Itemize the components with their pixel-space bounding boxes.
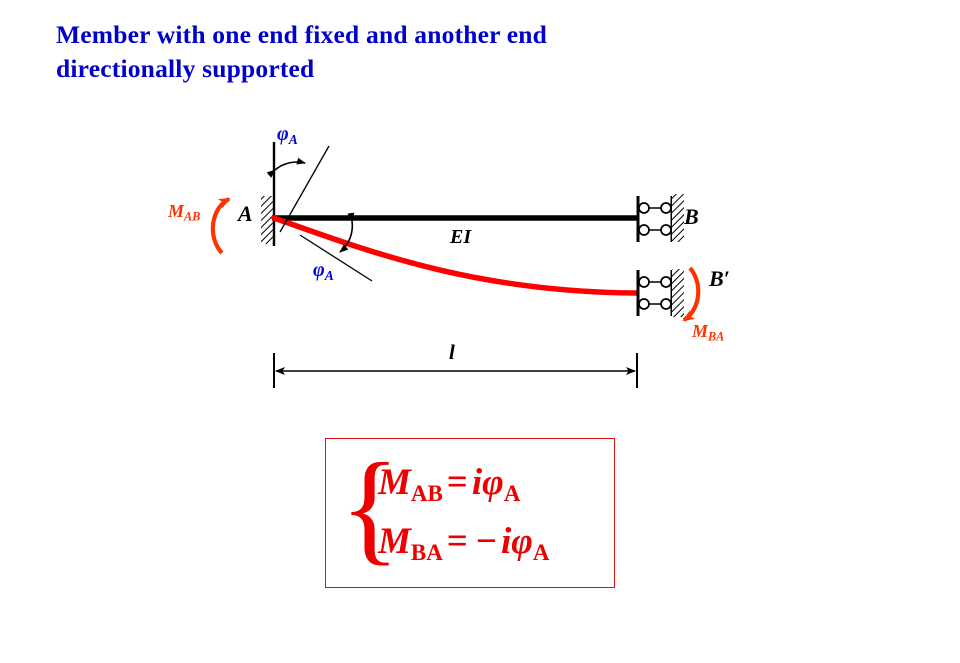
label-moment-ab: MAB [168, 202, 200, 223]
support-bp-roller-2 [661, 277, 671, 287]
label-node-b: B [684, 206, 699, 228]
label-moment-ab-symbol: M [168, 201, 184, 221]
label-moment-ba: MBA [692, 322, 724, 343]
label-moment-ba-symbol: M [692, 321, 708, 341]
eq2-stiffness-i: i [501, 521, 511, 562]
label-rotation-bottom: φA [313, 260, 334, 282]
eq1-lhs: M [378, 462, 411, 503]
directional-support-b [638, 194, 684, 242]
label-stiffness-ei: EI [450, 227, 471, 247]
support-b-roller-3 [639, 225, 649, 235]
slide-canvas: Member with one end fixed and another en… [0, 0, 960, 663]
formula-box: { MAB=iφA MBA=−iφA [325, 438, 615, 588]
label-rotation-top-symbol: φ [277, 123, 289, 145]
label-moment-ab-subscript: AB [184, 209, 200, 223]
directional-support-bprime [638, 269, 684, 317]
support-bp-wall-hatch [672, 269, 684, 317]
label-rotation-bottom-symbol: φ [313, 259, 325, 281]
eq1-phi-subscript: A [504, 481, 521, 506]
label-rotation-top: φA [277, 124, 298, 146]
label-span-length: l [449, 342, 455, 363]
moment-arrow-ba [684, 268, 698, 320]
support-bp-roller-1 [639, 277, 649, 287]
eq1-phi: φ [482, 462, 504, 503]
eq2-operator: = [443, 521, 472, 562]
support-bp-roller-4 [661, 299, 671, 309]
support-bp-roller-3 [639, 299, 649, 309]
support-b-roller-2 [661, 203, 671, 213]
formula-equation-1: MAB=iφA [378, 464, 520, 506]
fixed-support-hatch [261, 196, 273, 244]
label-rotation-bottom-subscript: A [325, 268, 334, 283]
label-node-a: A [238, 203, 253, 225]
eq1-lhs-subscript: AB [411, 481, 443, 506]
span-dimension [274, 353, 637, 388]
eq2-sign: − [472, 521, 501, 562]
eq2-phi: φ [511, 521, 533, 562]
label-moment-ba-subscript: BA [708, 329, 724, 343]
formula-equation-2: MBA=−iφA [378, 523, 549, 565]
support-b-wall-hatch [672, 194, 684, 242]
support-b-roller-1 [639, 203, 649, 213]
support-b-roller-4 [661, 225, 671, 235]
moment-arrow-ab [213, 199, 229, 253]
label-rotation-top-subscript: A [289, 132, 298, 147]
eq1-operator: = [443, 462, 472, 503]
angle-arc-upper [275, 162, 305, 170]
eq2-phi-subscript: A [533, 540, 550, 565]
fixed-support [261, 142, 274, 246]
eq1-stiffness-i: i [472, 462, 482, 503]
label-node-b-prime: B′ [709, 268, 730, 290]
eq2-lhs-subscript: BA [411, 540, 443, 565]
eq2-lhs: M [378, 521, 411, 562]
